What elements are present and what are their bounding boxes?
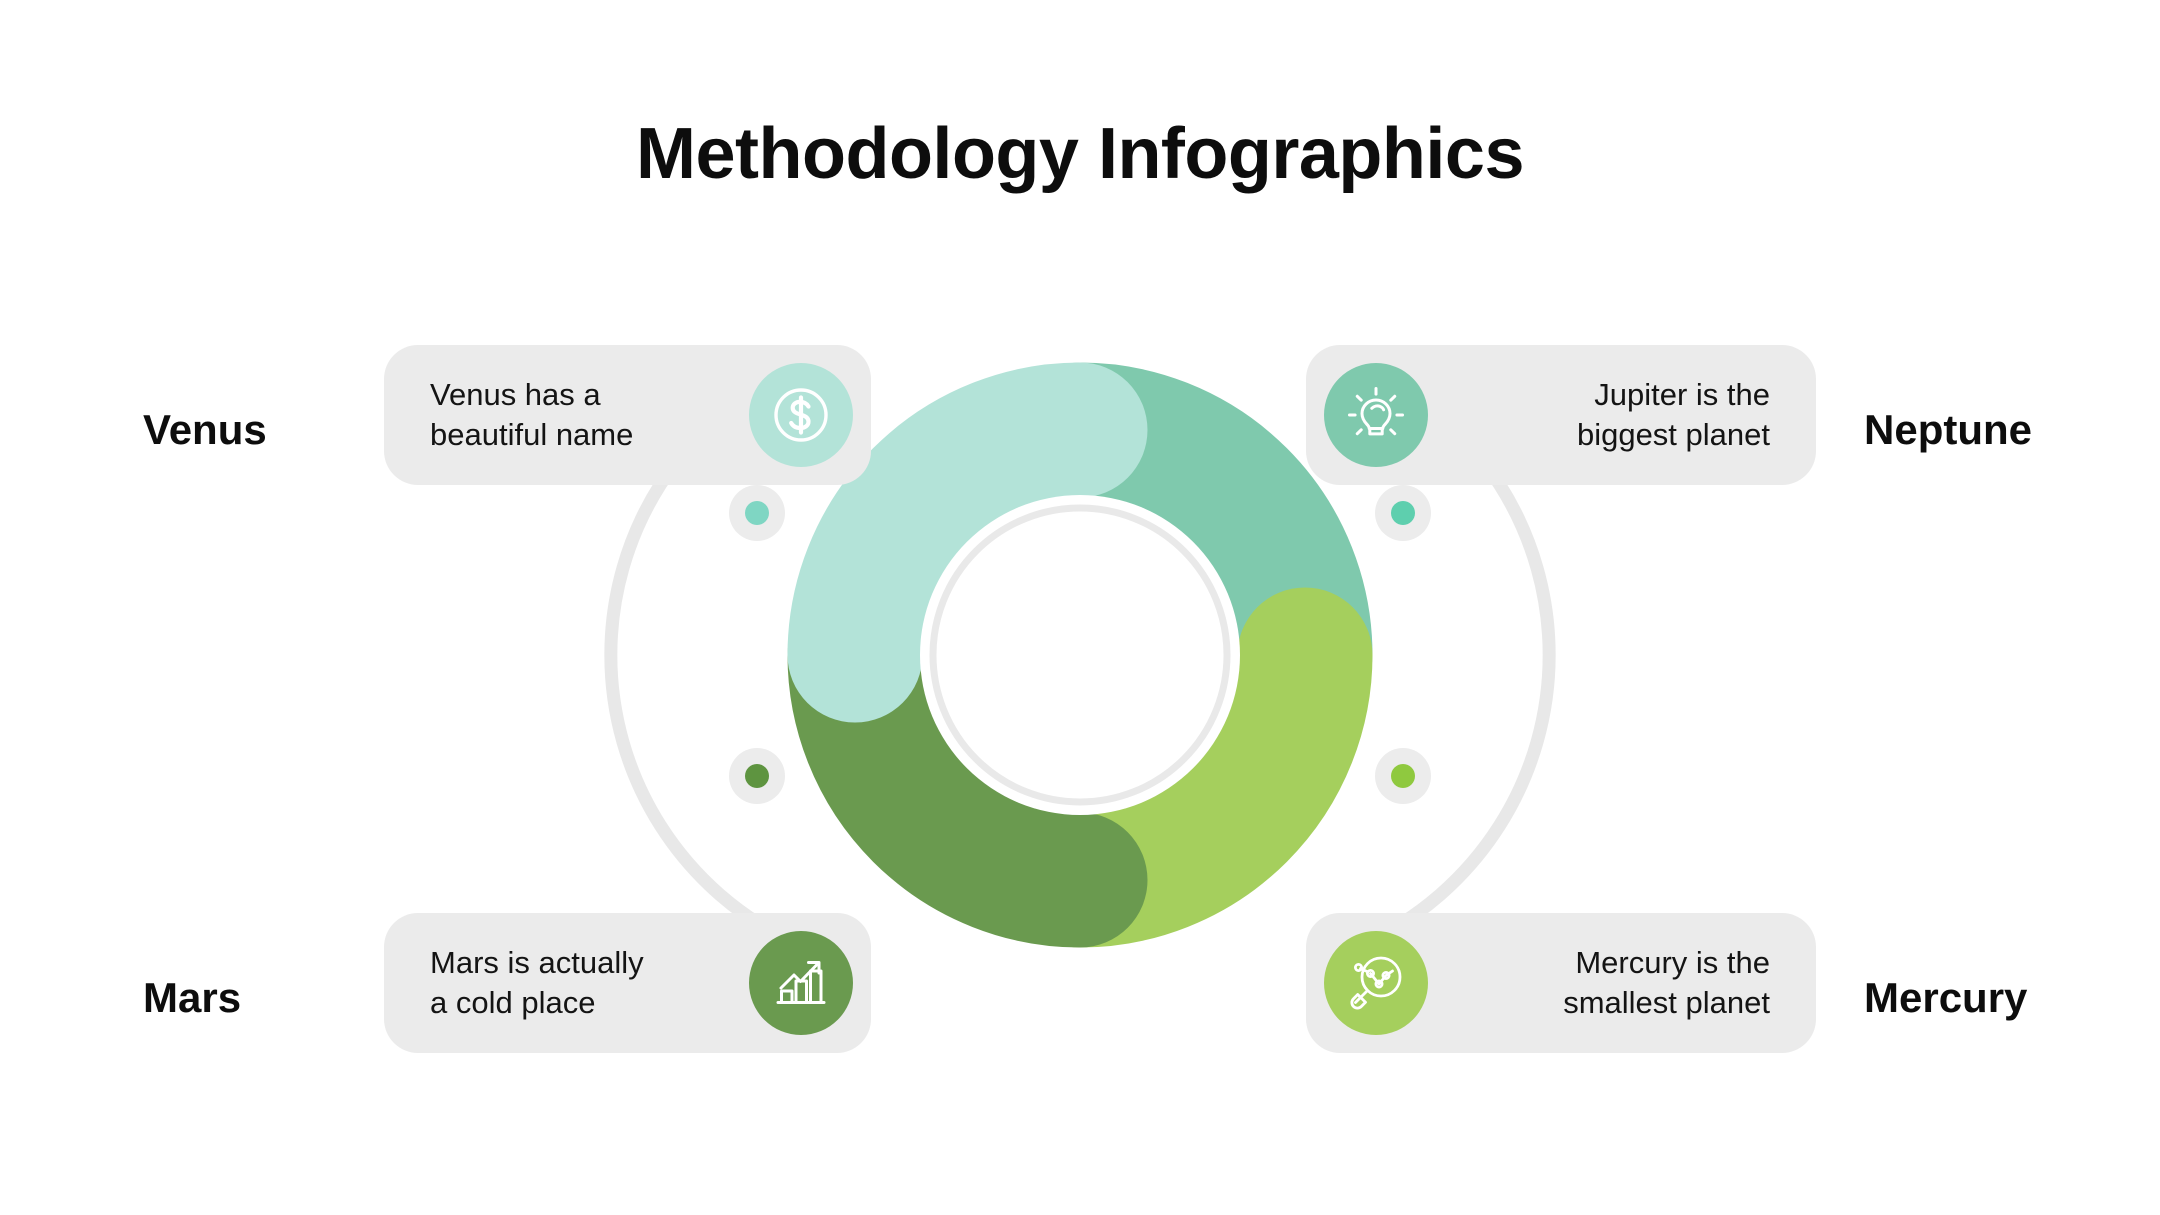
side-label-mercury: Mercury (1864, 977, 2027, 1019)
page-title: Methodology Infographics (0, 118, 2160, 190)
side-label-mars: Mars (143, 977, 241, 1019)
slide-canvas: Methodology Infographics (0, 0, 2160, 1215)
card-neptune[interactable]: Jupiter is the biggest planet (1306, 345, 1816, 485)
lightbulb-icon (1324, 363, 1428, 467)
card-mars-text: Mars is actually a cold place (384, 943, 749, 1024)
card-mars[interactable]: Mars is actually a cold place (384, 913, 871, 1053)
side-label-venus: Venus (143, 409, 267, 451)
card-mercury[interactable]: Mercury is the smallest planet (1306, 913, 1816, 1053)
donut-inner-outline (933, 508, 1227, 802)
card-neptune-text: Jupiter is the biggest planet (1428, 375, 1816, 456)
card-venus[interactable]: Venus has a beautiful name (384, 345, 871, 485)
track-dot-venus (729, 485, 785, 541)
track-dot-mars (729, 748, 785, 804)
magnifier-analytics-icon (1324, 931, 1428, 1035)
bar-chart-growth-icon (749, 931, 853, 1035)
dollar-coin-icon (749, 363, 853, 467)
card-venus-text: Venus has a beautiful name (384, 375, 749, 456)
track-dot-mercury (1375, 748, 1431, 804)
card-mercury-text: Mercury is the smallest planet (1428, 943, 1816, 1024)
track-dot-neptune (1375, 485, 1431, 541)
side-label-neptune: Neptune (1864, 409, 2032, 451)
